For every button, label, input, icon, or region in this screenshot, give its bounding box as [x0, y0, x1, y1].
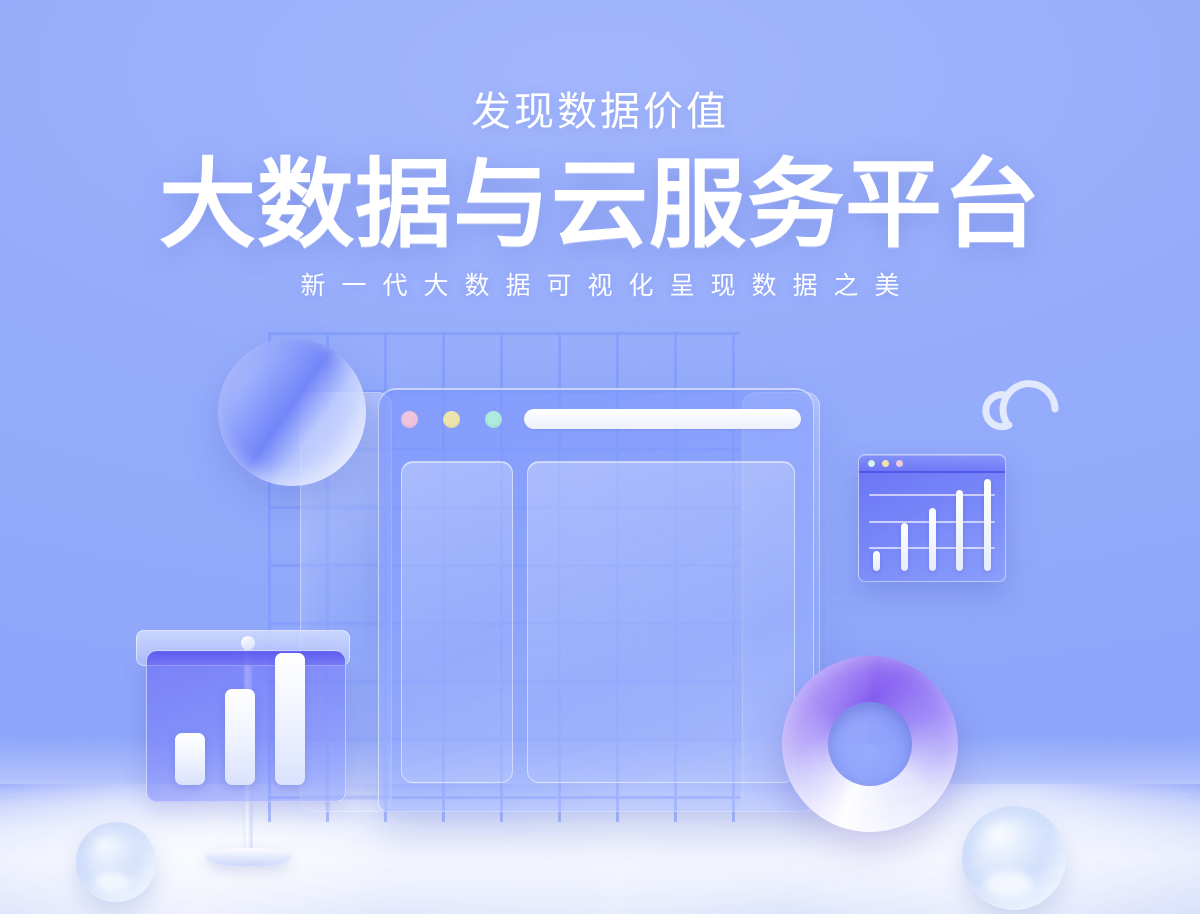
hero-text-block: 发现数据价值 大数据与云服务平台 新一代大数据可视化呈现数据之美: [0, 0, 1200, 299]
minimize-dot-icon[interactable]: [882, 460, 889, 467]
address-bar-input[interactable]: [524, 409, 801, 429]
bar-4: [956, 490, 963, 571]
bar-5: [984, 479, 991, 571]
bar-2: [901, 523, 908, 571]
bar-2: [225, 689, 255, 785]
page-title: 大数据与云服务平台: [0, 154, 1200, 256]
close-dot-icon[interactable]: [868, 460, 875, 467]
bar-3: [929, 508, 936, 571]
chart-stand-knob: [241, 636, 255, 650]
sidebar-pane[interactable]: [401, 461, 513, 783]
bar-chart-display: [132, 630, 364, 874]
chart-panel: [146, 650, 346, 802]
chart-stand-base: [205, 848, 291, 866]
analytics-plot: [869, 479, 995, 571]
close-dot-icon[interactable]: [401, 411, 418, 428]
bar-3: [275, 653, 305, 785]
torus-ring-icon: [782, 656, 958, 832]
glass-sphere-right: [962, 806, 1066, 910]
bar-1: [175, 733, 205, 785]
analytics-titlebar: [859, 455, 1005, 473]
content-pane[interactable]: [527, 461, 795, 783]
browser-titlebar: [379, 389, 813, 449]
hero-banner: 发现数据价值 大数据与云服务平台 新一代大数据可视化呈现数据之美: [0, 0, 1200, 914]
bar-1: [873, 551, 880, 571]
tagline-text: 新一代大数据可视化呈现数据之美: [0, 274, 1200, 299]
minimize-dot-icon[interactable]: [443, 411, 460, 428]
maximize-dot-icon[interactable]: [485, 411, 502, 428]
glass-sphere-left: [76, 822, 156, 902]
cloud-icon: [975, 365, 1067, 435]
bar-group: [873, 479, 991, 571]
analytics-window[interactable]: [858, 454, 1006, 582]
bar-group: [175, 653, 305, 785]
browser-mockup[interactable]: [378, 388, 814, 812]
eyebrow-text: 发现数据价值: [0, 92, 1200, 132]
maximize-dot-icon[interactable]: [896, 460, 903, 467]
glass-disc-icon: [218, 338, 366, 486]
